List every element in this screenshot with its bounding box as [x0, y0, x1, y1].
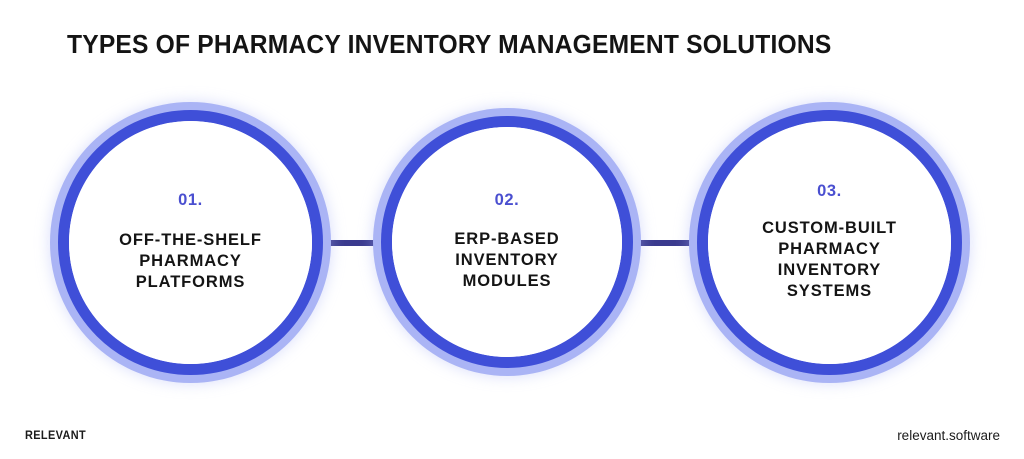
node-circle-3: 03. CUSTOM-BUILT PHARMACY INVENTORY SYST… — [697, 110, 962, 375]
footer-brand-logo: RELEVANT — [25, 430, 86, 442]
node-circle-2: 02. ERP-BASED INVENTORY MODULES — [381, 116, 633, 368]
node-number-3: 03. — [817, 183, 842, 200]
node-label-3: CUSTOM-BUILT PHARMACY INVENTORY SYSTEMS — [713, 218, 946, 302]
node-label-2: ERP-BASED INVENTORY MODULES — [397, 229, 618, 292]
node-content-2: 02. ERP-BASED INVENTORY MODULES — [392, 127, 622, 357]
node-number-2: 02. — [495, 192, 520, 209]
node-circle-1: 01. OFF-THE-SHELF PHARMACY PLATFORMS — [58, 110, 323, 375]
connector-line-1-2 — [312, 240, 392, 246]
node-content-1: 01. OFF-THE-SHELF PHARMACY PLATFORMS — [69, 121, 312, 364]
infographic-canvas: TYPES OF PHARMACY INVENTORY MANAGEMENT S… — [0, 0, 1024, 459]
node-content-3: 03. CUSTOM-BUILT PHARMACY INVENTORY SYST… — [708, 121, 951, 364]
node-number-1: 01. — [178, 192, 203, 209]
node-label-1: OFF-THE-SHELF PHARMACY PLATFORMS — [74, 230, 307, 293]
page-title: TYPES OF PHARMACY INVENTORY MANAGEMENT S… — [67, 31, 936, 59]
footer-website-url: relevant.software — [897, 428, 1000, 443]
